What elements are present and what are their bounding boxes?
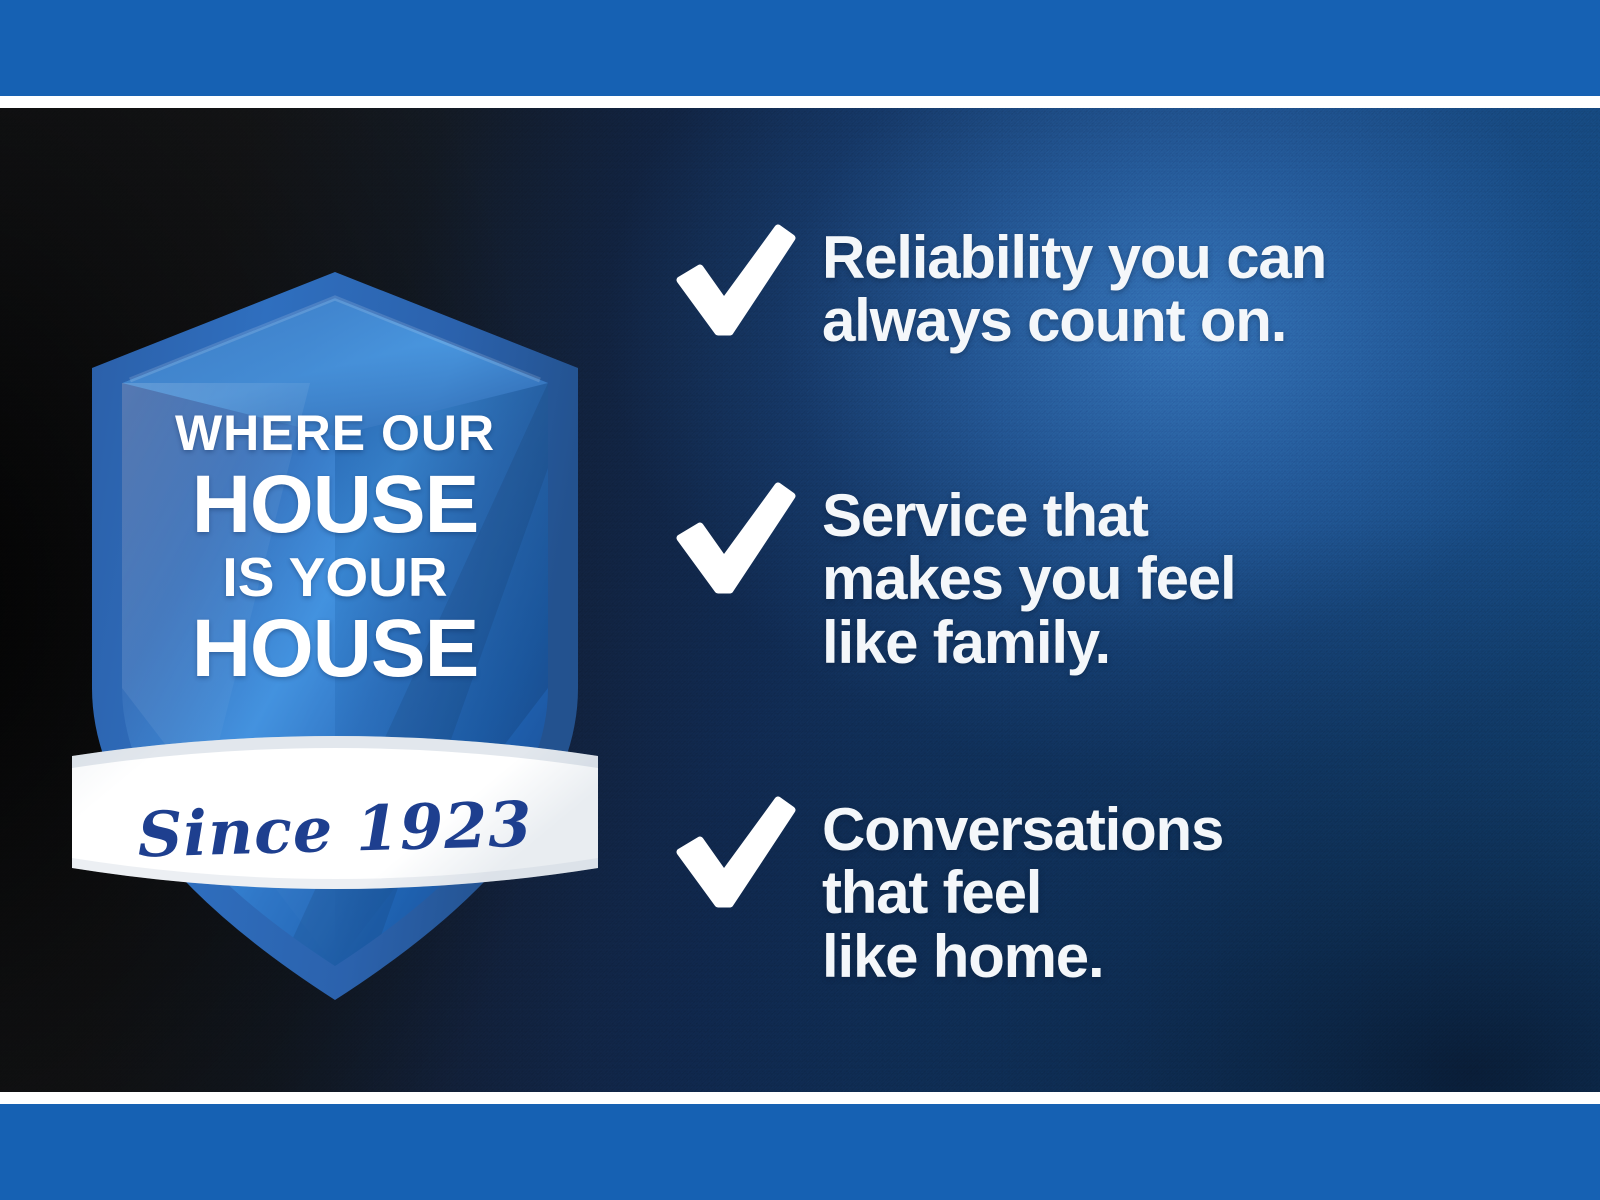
bottom-divider [0, 1092, 1600, 1104]
list-item-line: like family. [822, 611, 1560, 674]
list-item-line: makes you feel [822, 547, 1560, 610]
top-divider [0, 96, 1600, 108]
list-item-text: Service that makes you feel like family. [822, 474, 1560, 674]
top-brand-bar [0, 0, 1600, 96]
list-item: Reliability you can always count on. [660, 216, 1560, 353]
list-item: Conversations that feel like home. [660, 788, 1560, 988]
check-icon [660, 474, 800, 594]
shield-badge: WHERE OUR HOUSE IS YOUR HOUSE Since 1923 [70, 168, 600, 968]
promo-graphic: WHERE OUR HOUSE IS YOUR HOUSE Since 1923… [0, 0, 1600, 1200]
check-icon [660, 216, 800, 336]
list-item-line: Service that [822, 484, 1560, 547]
list-item-line: Conversations [822, 798, 1560, 861]
list-item-line: Reliability you can [822, 226, 1560, 289]
list-item-line: like home. [822, 925, 1560, 988]
shield-badge-icon [70, 168, 600, 968]
list-item-line: that feel [822, 861, 1560, 924]
list-item-text: Reliability you can always count on. [822, 216, 1560, 353]
list-item-text: Conversations that feel like home. [822, 788, 1560, 988]
list-item-line: always count on. [822, 289, 1560, 352]
main-canvas: WHERE OUR HOUSE IS YOUR HOUSE Since 1923… [0, 108, 1600, 1092]
check-icon [660, 788, 800, 908]
bottom-brand-bar [0, 1104, 1600, 1200]
benefits-list: Reliability you can always count on. Ser… [660, 108, 1560, 1092]
list-item: Service that makes you feel like family. [660, 474, 1560, 674]
